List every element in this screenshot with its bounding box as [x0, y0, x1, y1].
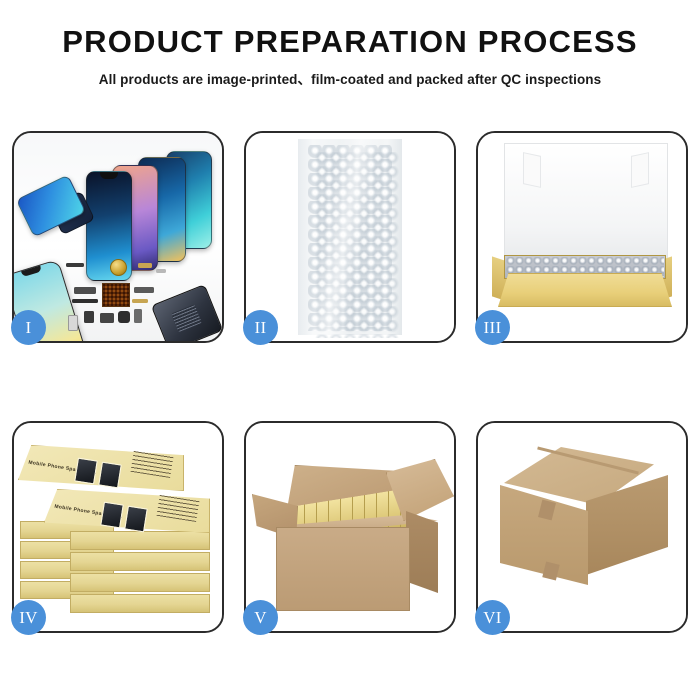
- page-header: PRODUCT PREPARATION PROCESS All products…: [0, 0, 700, 88]
- part-icon: [74, 287, 96, 294]
- page-title: PRODUCT PREPARATION PROCESS: [0, 26, 700, 59]
- plastic-sheen: [298, 139, 402, 335]
- step-badge-5: V: [243, 600, 278, 635]
- part-icon: [66, 263, 84, 267]
- step-badge-3: III: [475, 310, 510, 345]
- step-5-illustration: [246, 423, 454, 631]
- stacked-box: [70, 594, 210, 613]
- carton-front-panel: [276, 527, 410, 611]
- step-badge-6: VI: [475, 600, 510, 635]
- bubble-wrap-sleeve-graphic: [298, 139, 402, 335]
- chip-array-icon: [102, 283, 130, 307]
- part-icon: [118, 311, 130, 323]
- process-step-grid: I II III: [12, 131, 688, 633]
- part-icon: [84, 311, 94, 323]
- lid-tab-right: [631, 152, 649, 188]
- process-step-panel-2[interactable]: II: [244, 131, 456, 343]
- step-6-illustration: [478, 423, 686, 631]
- box-stack-graphic: Mobile Phone Spare Parts Mobile Phone Sp…: [18, 435, 218, 625]
- part-icon: [72, 299, 98, 303]
- box-window-right: [124, 506, 148, 533]
- step-4-illustration: Mobile Phone Spare Parts Mobile Phone Sp…: [14, 423, 222, 631]
- process-step-panel-1[interactable]: I: [12, 131, 224, 343]
- part-icon: [134, 309, 142, 323]
- page-subtitle: All products are image-printed、film-coat…: [0, 68, 700, 88]
- box-window-right: [98, 462, 122, 489]
- white-box-lid-graphic: [504, 143, 668, 263]
- spare-parts-cluster-graphic: [66, 255, 206, 341]
- step-3-illustration: [478, 133, 686, 341]
- carton-side-panel: [406, 511, 438, 593]
- part-icon: [138, 263, 152, 268]
- step-badge-4: IV: [11, 600, 46, 635]
- stacked-box: [70, 573, 210, 592]
- process-step-panel-6[interactable]: VI: [476, 421, 688, 633]
- process-step-panel-3[interactable]: III: [476, 131, 688, 343]
- carton-tab-lower: [542, 562, 559, 581]
- step-badge-1: I: [11, 310, 46, 345]
- part-icon: [156, 269, 166, 273]
- step-badge-2: II: [243, 310, 278, 345]
- lid-tab-left: [523, 152, 541, 188]
- box-window-left: [100, 502, 124, 529]
- yellow-tray-graphic: [498, 273, 672, 307]
- part-icon: [132, 299, 148, 303]
- part-icon: [68, 315, 78, 331]
- part-icon: [100, 313, 114, 323]
- step-1-illustration: [14, 133, 222, 341]
- process-step-panel-5[interactable]: V: [244, 421, 456, 633]
- stacked-box: [70, 552, 210, 571]
- part-icon: [134, 287, 154, 293]
- box-window-left: [74, 458, 98, 485]
- stacked-box: [70, 531, 210, 550]
- step-2-illustration: [246, 133, 454, 341]
- coil-part-icon: [110, 259, 127, 276]
- process-step-panel-4[interactable]: Mobile Phone Spare Parts Mobile Phone Sp…: [12, 421, 224, 633]
